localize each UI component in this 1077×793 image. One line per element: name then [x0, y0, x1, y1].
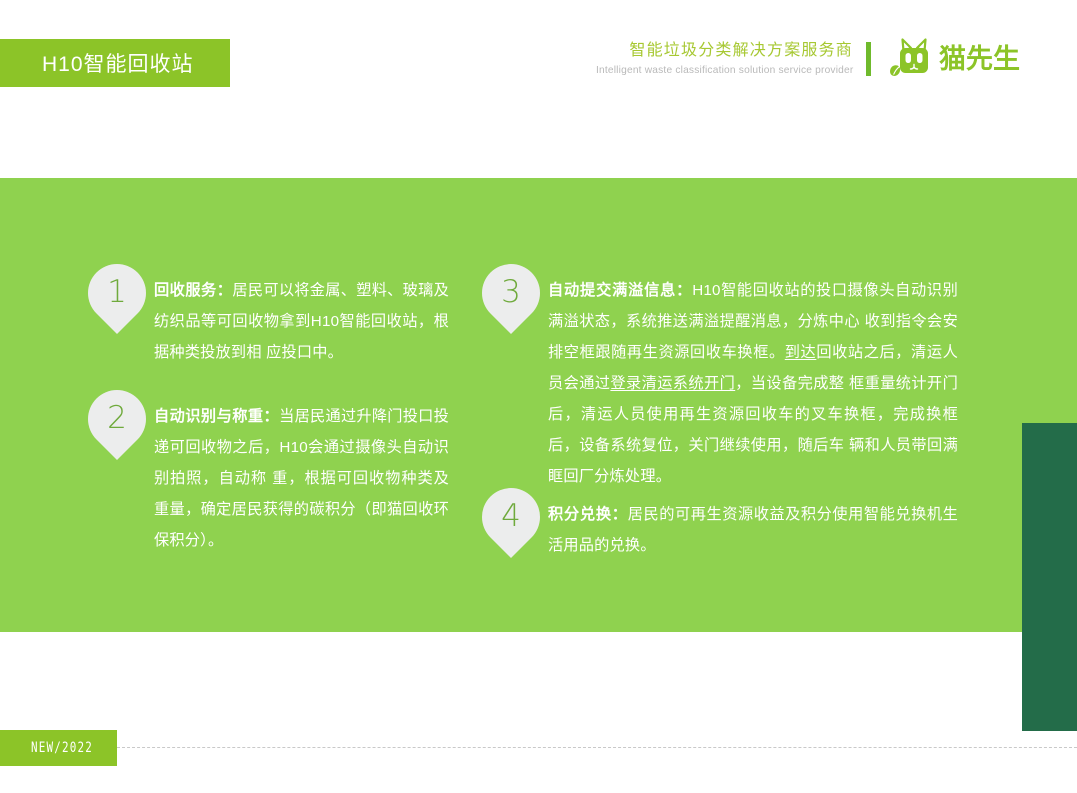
- tagline-english: Intelligent waste classification solutio…: [595, 62, 853, 78]
- brand-tagline-group: 智能垃圾分类解决方案服务商 Intelligent waste classifi…: [588, 40, 866, 78]
- brand-divider: [866, 42, 871, 76]
- page-title-chip: H10智能回收站: [0, 39, 230, 87]
- pin-number: 4: [482, 488, 540, 544]
- list-item: 2 自动识别与称重：当居民通过升降门投口投递可回收物之后，H10会通过摄像头自动…: [88, 390, 478, 556]
- list-item-text: 积分兑换：居民的可再生资源收益及积分使用智能兑换机生活用品的兑换。: [548, 488, 958, 561]
- pin-number: 1: [88, 264, 146, 320]
- list-item-text: 回收服务：居民可以将金属、塑料、玻璃及纺织品等可回收物拿到H10智能回收站，根据…: [154, 264, 449, 368]
- list-item: 3 自动提交满溢信息：H10智能回收站的投口摄像头自动识别满溢状态，系统推送满溢…: [482, 264, 972, 492]
- brand-logo: 猫先生: [887, 37, 1020, 81]
- map-pin-icon: 2: [88, 390, 146, 468]
- list-item-body-underline2: 登录清运系统开门: [610, 375, 735, 392]
- list-item-text: 自动提交满溢信息：H10智能回收站的投口摄像头自动识别满溢状态，系统推送满溢提醒…: [548, 264, 958, 492]
- map-pin-icon: 1: [88, 264, 146, 342]
- list-item-heading: 自动识别与称重：: [154, 408, 279, 425]
- feature-list: 1 回收服务：居民可以将金属、塑料、玻璃及纺织品等可回收物拿到H10智能回收站，…: [0, 178, 1077, 632]
- list-item-text: 自动识别与称重：当居民通过升降门投口投递可回收物之后，H10会通过摄像头自动识别…: [154, 390, 449, 556]
- footer-label: NEW/2022: [31, 740, 93, 756]
- pin-number: 2: [88, 390, 146, 446]
- brand-lockup: 智能垃圾分类解决方案服务商 Intelligent waste classifi…: [588, 37, 1020, 81]
- map-pin-icon: 4: [482, 488, 540, 566]
- footer-chip: NEW/2022: [0, 730, 117, 766]
- list-item-body: 当居民通过升降门投口投递可回收物之后，H10会通过摄像头自动识别拍照，自动称 重…: [154, 408, 449, 549]
- list-item: 4 积分兑换：居民的可再生资源收益及积分使用智能兑换机生活用品的兑换。: [482, 488, 972, 566]
- footer-divider: [117, 747, 1077, 748]
- page-title: H10智能回收站: [42, 48, 194, 78]
- list-item-heading: 积分兑换：: [548, 506, 628, 523]
- cat-head-leaf-icon: [887, 37, 933, 81]
- pin-number: 3: [482, 264, 540, 320]
- brand-name: 猫先生: [939, 46, 1020, 73]
- list-item-body-underline1: 到达: [785, 344, 817, 361]
- map-pin-icon: 3: [482, 264, 540, 342]
- list-item: 1 回收服务：居民可以将金属、塑料、玻璃及纺织品等可回收物拿到H10智能回收站，…: [88, 264, 478, 368]
- page-footer: NEW/2022: [0, 730, 1077, 766]
- tagline-chinese: 智能垃圾分类解决方案服务商: [629, 40, 853, 62]
- page-header: H10智能回收站 智能垃圾分类解决方案服务商 Intelligent waste…: [0, 39, 1077, 87]
- list-item-heading: 自动提交满溢信息：: [548, 282, 692, 299]
- list-item-heading: 回收服务：: [154, 282, 232, 299]
